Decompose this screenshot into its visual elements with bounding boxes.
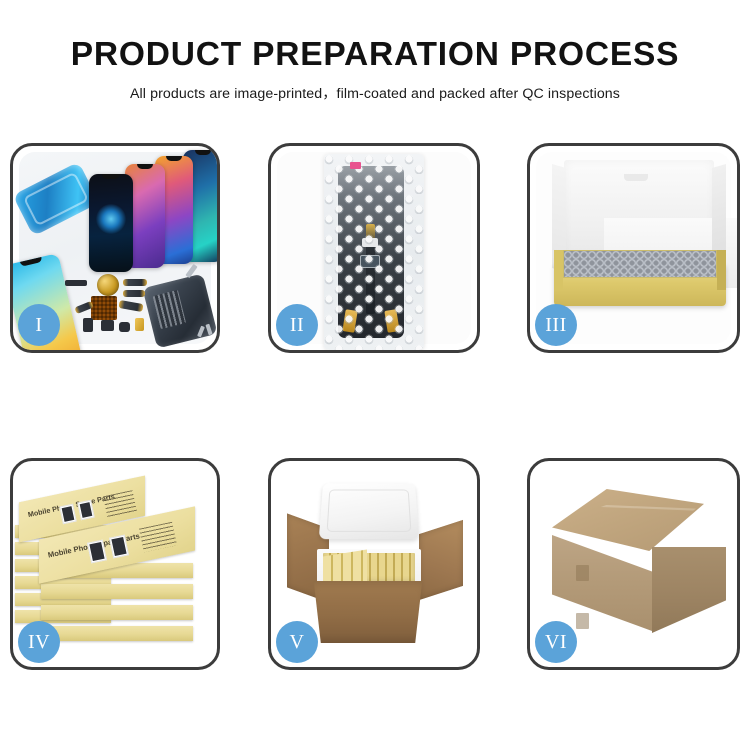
stack-edge-f2 [41, 584, 193, 599]
process-grid: I II [0, 0, 750, 750]
phone-glass-screen-graphic [89, 174, 133, 272]
step-panel-1[interactable]: I [10, 143, 220, 353]
stack-edge-f4 [41, 626, 193, 641]
pink-label-dot [350, 162, 361, 169]
speaker-part [65, 280, 87, 286]
step-panel-5[interactable]: V [268, 458, 480, 670]
backplate-chips-graphic [153, 290, 186, 329]
step-badge-5: V [276, 621, 318, 663]
step-badge-6: VI [535, 621, 577, 663]
small-module-part-1 [83, 318, 93, 332]
step-panel-4[interactable]: Mobile Phone Spare Parts Mobile Phone Sp… [10, 458, 220, 670]
step-badge-2: II [276, 304, 318, 346]
tray-lip-left [554, 250, 563, 290]
step-panel-6[interactable]: VI [527, 458, 740, 670]
chip-grid-part [91, 296, 117, 320]
bubble-highlight-texture [324, 154, 424, 350]
bubble-wrap-bag-graphic [324, 154, 424, 350]
small-module-part-2 [101, 320, 114, 331]
gold-coil-part [97, 274, 119, 296]
step-badge-3: III [535, 304, 577, 346]
step-badge-1: I [18, 304, 60, 346]
gold-module-part [135, 318, 144, 331]
flex-cable-part-2 [123, 290, 145, 297]
lid-notch [624, 174, 648, 181]
carton-seam-upper [576, 565, 589, 581]
page-root: PRODUCT PREPARATION PROCESS All products… [0, 0, 750, 750]
screen-spark-graphic [96, 204, 126, 234]
tray-lip-right [717, 250, 726, 290]
tray-bubble-contents [563, 250, 717, 278]
stack-edge-f3 [41, 605, 193, 620]
small-module-part-3 [119, 322, 130, 332]
foam-lid-graphic [319, 483, 419, 539]
yellow-tray-box-graphic [554, 264, 726, 306]
carton-seam-lower [576, 613, 589, 629]
carton-body-graphic [309, 581, 427, 643]
flex-cable-part-1 [123, 279, 147, 286]
step-panel-3[interactable]: III [527, 143, 740, 353]
step-badge-4: IV [18, 621, 60, 663]
step-panel-2[interactable]: II [268, 143, 480, 353]
